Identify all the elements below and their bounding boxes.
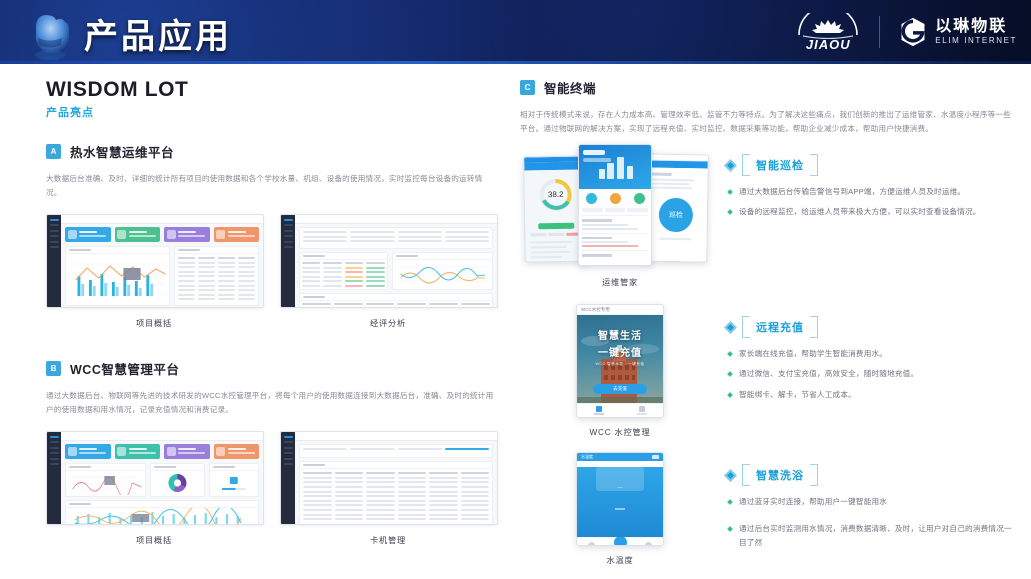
feature-item: 智能绑卡、解卡，节省人工成本。 [726,388,1013,401]
mini-metric [210,471,258,495]
table-row [178,280,255,282]
fist-icon [22,4,78,62]
pie-chart-panel [150,463,205,497]
section-a: A 热水智慧运维平台 大数据后台准确、及时、详细的统计所有项目的使用数据和各个学… [46,142,496,329]
svg-text:38.2: 38.2 [548,190,564,199]
feature-title: 智慧洗浴 [756,470,804,482]
feature-head: 智慧洗浴 [726,464,1013,486]
bar-line-chart [66,254,169,304]
feature-smart-bathing: 智慧洗浴 通过蓝牙实时连接，帮助用户一键智能用水 通过后台实时监测用水情况，消费… [726,452,1013,556]
mockup-water-temp[interactable]: 水温度 — [520,452,720,566]
kpi-card [65,227,111,242]
table-row [178,289,255,291]
row-remote-recharge: WCC水控专用 [520,304,1013,438]
feature-title-bracket: 智慧洗浴 [742,464,818,486]
phone-wcc[interactable]: WCC水控专用 [576,304,664,418]
table-row [178,298,255,300]
feature-list: 家长端在线充值，帮助学生智能消费用水。 通过微信、支付宝充值，高效安全，随时随地… [726,347,1013,401]
elim-logo-cn: 以琳物联 [935,19,1017,36]
section-a-badge: A [46,144,61,159]
3d-city-illustration [579,145,651,189]
shot-caption: 项目概括 [46,534,262,546]
diamond-icon [724,159,737,172]
header-logos: JIAOU 以琳物联 ELIM INTERNET [795,6,1017,58]
table-row [178,294,255,296]
dual-line-chart [393,260,492,288]
poster-hero: 智慧生活 一键充值 WCC 智慧水控 · 一键充值 去充值 [577,315,663,403]
mockup-caption: 运维管家 [520,276,720,288]
app-sidebar [281,215,295,307]
screenshot-frame[interactable] [46,214,264,308]
product-application-page: 产品应用 JIAOU 以琳物联 ELIM INTERNET [0,0,1031,579]
section-a-shots: 项目概括 [46,214,496,329]
table-row [178,262,255,264]
mockup-wcc-water[interactable]: WCC水控专用 [520,304,720,438]
screenshot-frame[interactable] [280,431,498,525]
table-row [178,271,255,273]
section-b-desc: 通过大数据后台、物联网等先进的技术研发的WCC水控管理平台，将每个用户的使用数据… [46,389,496,417]
app-canvas [295,223,497,307]
shot-caption: 项目概括 [46,317,262,329]
feature-head: 远程充值 [726,316,1013,338]
quick-actions[interactable] [579,189,651,208]
wifi-icon [652,455,659,459]
shot-project-overview-2[interactable]: 项目概括 [46,431,262,546]
kpi-card [115,227,161,242]
kpi-card [214,227,260,242]
phone-center[interactable] [578,144,652,266]
phone-cluster: 38.2 [520,144,720,272]
table-row [178,275,255,277]
diamond-icon [724,469,737,482]
feature-remote-recharge: 远程充值 家长端在线充值，帮助学生智能消费用水。 通过微信、支付宝充值，高效安全… [726,304,1013,408]
logo-divider [879,16,880,48]
feature-title: 远程充值 [756,322,804,334]
combo-chart-panel [65,500,259,525]
feature-item: 通过大数据后台传输告警信号到APP端，方便运维人员及时运维。 [726,185,1013,198]
mockup-ops-butler[interactable]: 38.2 [520,142,720,288]
recharge-button[interactable]: 去充值 [593,384,647,394]
data-table-panel [174,246,259,306]
bar-chart-panel [65,246,170,306]
right-column: C 智能终端 相对于传统模式来说，存在人力成本高、管理效率低、监管不力等特点。为… [512,64,1031,579]
status-table-panel [299,252,388,290]
section-b-title: WCC智慧管理平台 [70,359,179,378]
list-item [582,250,648,260]
feature-item: 通过蓝牙实时连接，帮助用户一键智能用水 [726,495,1013,508]
elim-logo: 以琳物联 ELIM INTERNET [898,17,1017,47]
section-a-head: A 热水智慧运维平台 [46,142,496,161]
screenshot-frame[interactable] [280,214,498,308]
feature-title: 智能巡检 [756,160,804,172]
detail-table-panel [299,293,493,308]
page-body: WISDOM LOT 产品亮点 A 热水智慧运维平台 大数据后台准确、及时、详细… [0,64,1031,579]
list-item [582,215,648,233]
temperature-gauge: 38.2 [529,175,582,216]
records-table-panel [299,461,493,525]
table-row [178,285,255,287]
inspection-button[interactable]: 巡检 [659,197,694,232]
poster-line-2: 一键充值 [577,344,663,359]
section-c-head: C 智能终端 [520,78,1013,97]
shot-caption: 经评分析 [280,317,496,329]
shot-economic-analysis[interactable]: 经评分析 [280,214,496,329]
shot-card-machine[interactable]: 卡机管理 [280,431,496,546]
diamond-icon [724,321,737,334]
feature-list: 通过大数据后台传输告警信号到APP端，方便运维人员及时运维。 设备的远程监控，给… [726,185,1013,219]
phone-screen-title: WCC水控专用 [581,307,610,313]
device-screen: — [577,467,663,537]
feature-item: 通过微信、支付宝充值，高效安全，随时随地充值。 [726,367,1013,380]
panel-row [65,463,259,497]
feature-item: 家长端在线充值，帮助学生智能消费用水。 [726,347,1013,360]
brand-title-en: WISDOM LOT [46,78,496,102]
row-ops-butler: 38.2 [520,142,1013,288]
brand-title-cn: 产品亮点 [46,104,496,120]
kpi-card [115,444,161,459]
feature-list: 通过蓝牙实时连接，帮助用户一键智能用水 通过后台实时监测用水情况，消费数据清晰、… [726,495,1013,549]
phone-right[interactable]: 巡检 [643,154,709,263]
feature-head: 智能巡检 [726,154,1013,176]
trend-line-chart [66,471,145,495]
kpi-row [65,444,259,459]
panel-row [299,252,493,290]
section-a-desc: 大数据后台准确、及时、详细的统计所有项目的使用数据和各个学校水量、机组、设备的使… [46,172,496,200]
jiaou-logo-text: JIAOU [806,37,851,52]
feature-item: 设备的远程监控，给运维人员带来极大方便，可以实时查看设备情况。 [726,205,1013,218]
app-sidebar [47,215,61,307]
feature-item: 通过后台实时监测用水情况，消费数据清晰、及时，让用户对自己的消费情况一目了然 [726,522,1013,549]
app-sidebar [281,432,295,524]
list-item [582,233,648,251]
search-bar-panel [299,444,493,458]
kpi-row [65,227,259,242]
combo-bar-line-chart [66,508,258,525]
phone-water-temp[interactable]: 水温度 — [576,452,664,546]
phone-tabbar[interactable] [577,403,663,417]
page-header: 产品应用 JIAOU 以琳物联 ELIM INTERNET [0,0,1031,64]
shot-caption: 卡机管理 [280,534,496,546]
donut-chart [151,471,204,495]
kpi-card [164,227,210,242]
feature-smart-inspection: 智能巡检 通过大数据后台传输告警信号到APP端，方便运维人员及时运维。 设备的远… [726,142,1013,226]
phone-hero [579,145,651,189]
elim-logo-en: ELIM INTERNET [935,36,1017,46]
alert-list [579,215,651,260]
elim-logo-text: 以琳物联 ELIM INTERNET [935,19,1017,45]
phone-tabbar[interactable] [577,537,663,546]
screenshot-frame[interactable] [46,431,264,525]
table-row [178,266,255,268]
filter-row[interactable] [579,208,651,215]
section-a-title: 热水智慧运维平台 [70,142,174,161]
section-b-head: B WCC智慧管理平台 [46,359,496,378]
app-sidebar [47,432,61,524]
poster-line-1: 智慧生活 [577,327,663,342]
phone-screen-title: 水温度 [581,454,593,460]
shot-project-overview[interactable]: 项目概括 [46,214,262,329]
app-canvas [61,223,263,307]
section-c-badge: C [520,80,535,95]
jiaou-sun-icon [795,13,861,39]
kpi-card [214,444,260,459]
app-canvas [295,440,497,524]
data-table [175,254,258,306]
jiaou-logo: JIAOU [795,13,861,52]
section-b-shots: 项目概括 [46,431,496,546]
section-b: B WCC智慧管理平台 通过大数据后台、物联网等先进的技术研发的WCC水控管理平… [46,359,496,546]
section-b-badge: B [46,361,61,376]
page-title: 产品应用 [84,9,232,58]
section-c-title: 智能终端 [544,78,596,97]
kpi-card [65,444,111,459]
row-smart-bathing: 水温度 — [520,452,1013,566]
app-canvas [61,440,263,524]
table-header-row [178,257,255,259]
mockup-caption: 水温度 [520,554,720,566]
trend-line-panel [65,463,146,497]
filter-panel [299,227,493,249]
section-c-desc: 相对于传统模式来说，存在人力成本高、管理效率低、监管不力等特点。为了解决这些痛点… [520,108,1013,136]
panel-row [65,246,259,306]
gauge-panel [209,463,259,497]
line-chart-panel [392,252,493,290]
feature-title-bracket: 远程充值 [742,316,818,338]
feature-title-bracket: 智能巡检 [742,154,818,176]
kpi-card [164,444,210,459]
mockup-caption: WCC 水控管理 [520,426,720,438]
elim-mark-icon [898,17,928,47]
left-column: WISDOM LOT 产品亮点 A 热水智慧运维平台 大数据后台准确、及时、详细… [0,64,512,579]
